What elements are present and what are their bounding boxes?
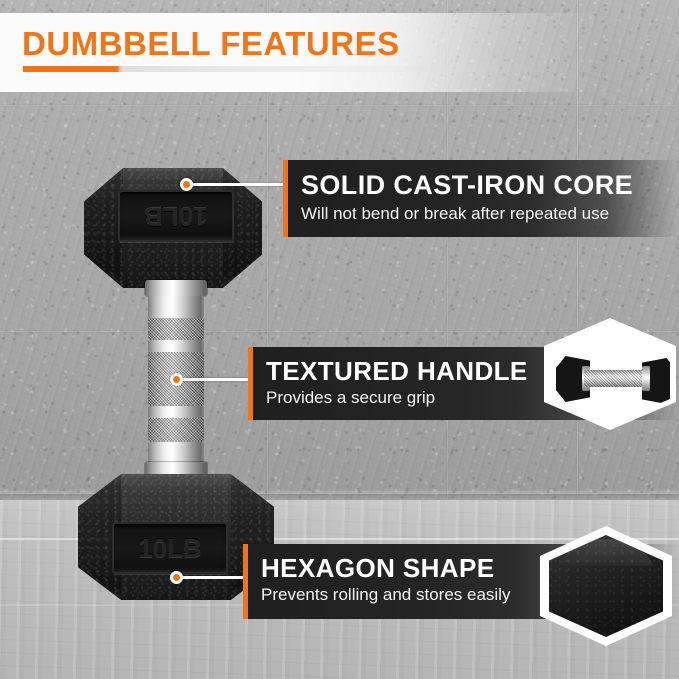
handle-smooth-band-1 xyxy=(148,340,204,352)
handle-collar-top xyxy=(145,280,207,296)
feature-callout-2-title: TEXTURED HANDLE xyxy=(266,356,528,387)
weight-label-top: 10LB xyxy=(144,201,208,232)
connector-dot-1 xyxy=(180,178,193,191)
weight-plate-top: 10LB xyxy=(118,190,234,242)
page-title: DUMBBELL FEATURES xyxy=(22,25,400,63)
feature-callout-3-subtitle: Prevents rolling and stores easily xyxy=(261,585,510,605)
handle-knurl-band-2 xyxy=(148,418,204,442)
handle-smooth-band-2 xyxy=(148,406,204,418)
feature-callout-3-accent-stripe xyxy=(243,544,248,619)
inset-image-hexagon-face xyxy=(540,526,672,646)
dumbbell-head-top: 10LB xyxy=(84,168,262,288)
feature-callout-2-accent-stripe xyxy=(248,347,253,420)
weight-label-bottom: 10LB xyxy=(138,533,202,564)
wall-seam-horizontal-1 xyxy=(0,104,679,107)
feature-callout-3-title: HEXAGON SHAPE xyxy=(261,553,494,584)
connector-dot-3 xyxy=(170,571,183,584)
infographic-canvas: DUMBBELL FEATURES 10LB 10LB xyxy=(0,0,679,679)
connector-dot-2 xyxy=(170,373,183,386)
side-dumbbell-collar-right xyxy=(642,366,650,391)
weight-plate-bottom: 10LB xyxy=(112,522,228,574)
feature-callout-1-accent-stripe xyxy=(283,160,288,237)
handle-shaft-lower xyxy=(148,442,204,462)
connector-line-2 xyxy=(178,378,252,381)
connector-line-1 xyxy=(188,183,286,186)
inset-image-handle-closeup xyxy=(544,318,676,430)
side-dumbbell-knurled-bar xyxy=(584,370,648,387)
header-underline-rule xyxy=(23,66,553,72)
feature-callout-1-subtitle: Will not bend or break after repeated us… xyxy=(301,204,609,224)
feature-callout-1-title: SOLID CAST-IRON CORE xyxy=(301,170,633,201)
side-dumbbell-illustration xyxy=(556,356,670,404)
handle-shaft-upper xyxy=(148,296,204,318)
connector-line-3 xyxy=(178,576,248,579)
feature-callout-2-subtitle: Provides a secure grip xyxy=(266,388,435,408)
handle-knurl-band-1 xyxy=(148,318,204,340)
feature-callout-1: SOLID CAST-IRON CORE Will not bend or br… xyxy=(283,160,679,237)
